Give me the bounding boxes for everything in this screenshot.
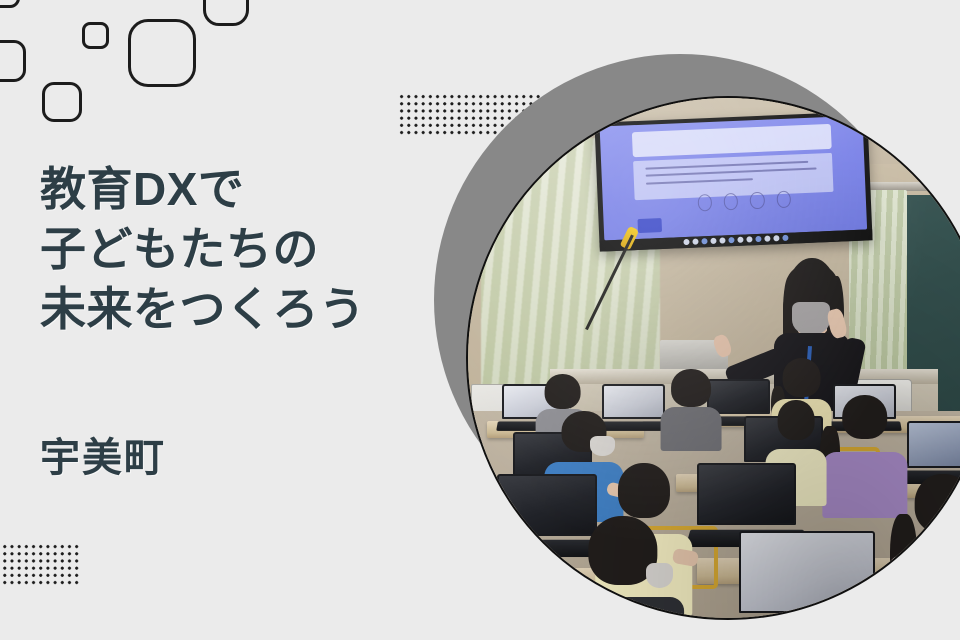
display-card: [631, 123, 832, 156]
display-screen: [599, 115, 867, 240]
copy-block: 教育DXで 子どもたちの 未来をつくろう 宇美町: [40, 160, 470, 339]
photo-clip: [466, 96, 960, 620]
headline-line-2: 子どもたちの: [40, 220, 470, 280]
classroom-scene: [466, 96, 960, 620]
rounded-square-icon: [0, 0, 20, 8]
student-pink-gingham: [896, 474, 960, 621]
headline-line-3: 未来をつくろう: [40, 280, 470, 340]
rounded-square-icon: [128, 19, 196, 87]
laptop-foreground: [739, 531, 876, 620]
subtitle-town-name: 宇美町: [40, 425, 166, 483]
student-purple-shirt: [828, 395, 902, 505]
rounded-square-icon: [0, 40, 26, 82]
rounded-square-icon: [82, 22, 109, 49]
display-submit-button: [637, 218, 661, 233]
rounded-square-icon: [203, 0, 249, 26]
student: [665, 369, 718, 443]
headline-line-1: 教育DXで: [40, 160, 470, 220]
classroom-photo: [466, 96, 960, 620]
student-foreground: [571, 516, 676, 621]
face-mask: [792, 302, 830, 335]
dot-grid-bottom: [0, 543, 80, 587]
poster-canvas: 教育DXで 子どもたちの 未来をつくろう 宇美町: [0, 0, 960, 640]
page-title: 教育DXで 子どもたちの 未来をつくろう: [40, 160, 470, 339]
rounded-square-icon: [42, 82, 82, 122]
